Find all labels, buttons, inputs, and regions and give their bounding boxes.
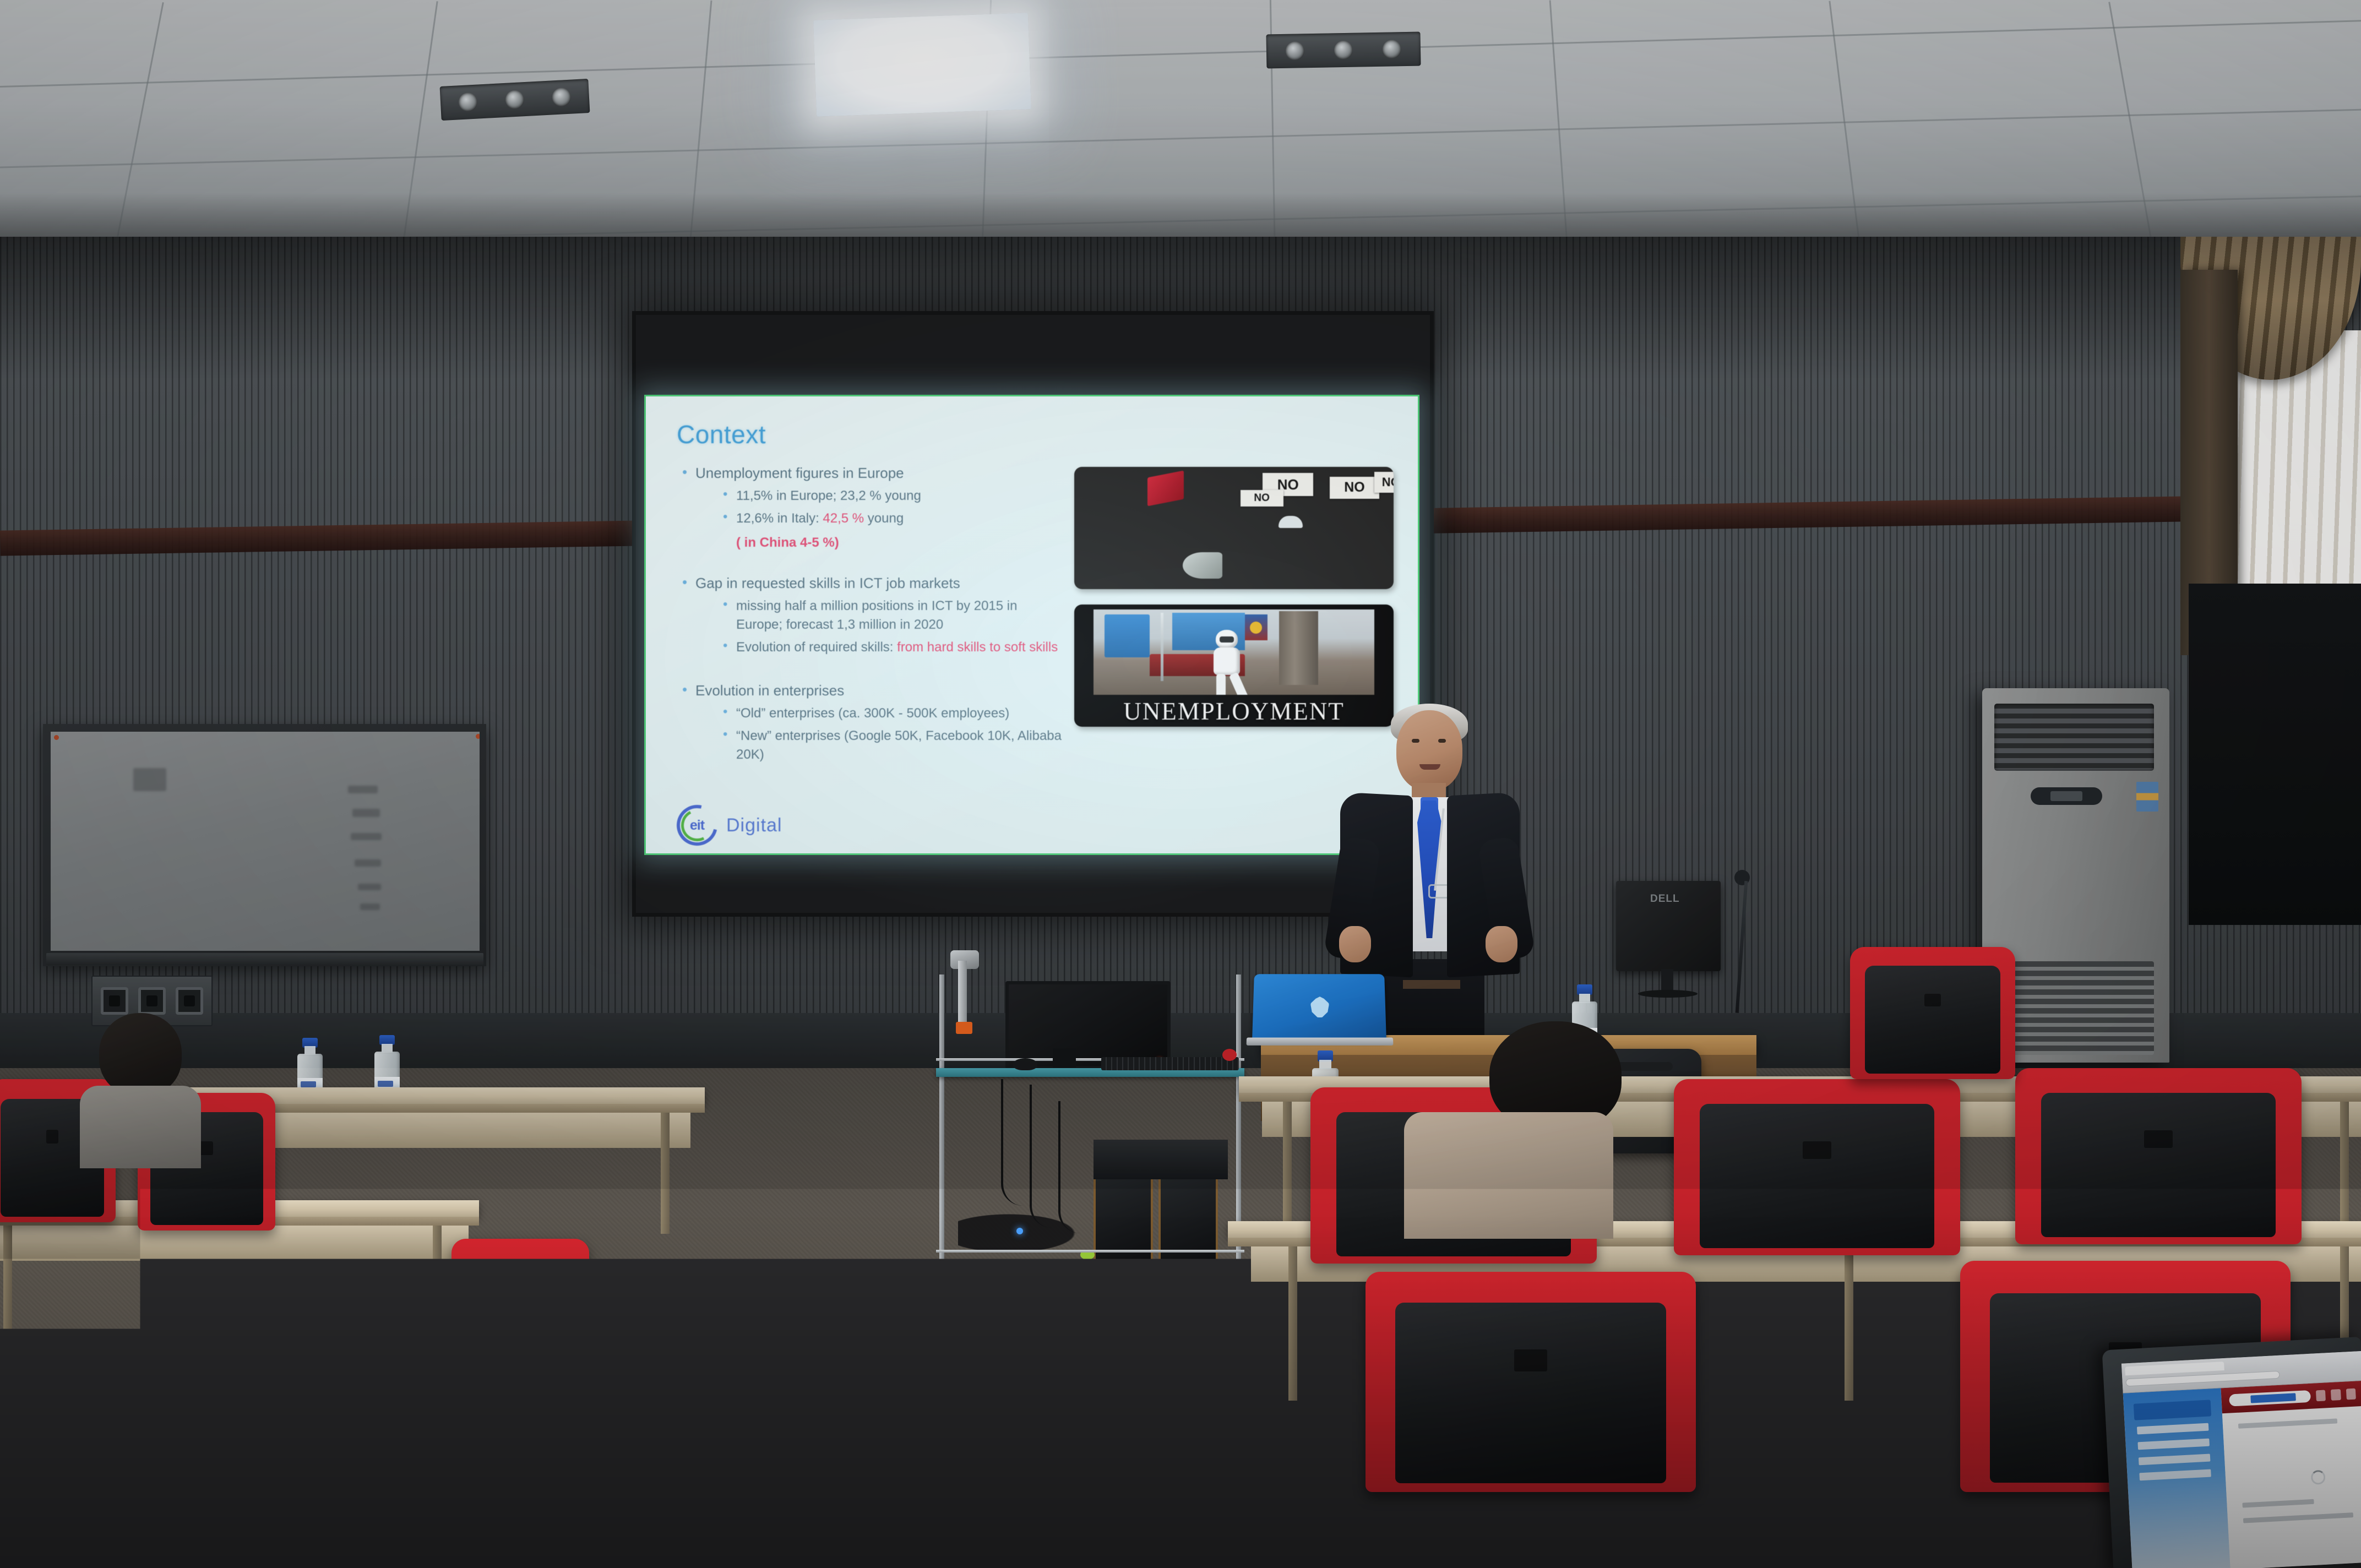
ac-vent-icon — [1994, 704, 2154, 771]
av-equipment-cart — [936, 974, 1244, 1316]
presenter-head — [1396, 710, 1462, 791]
slide-text-column: Unemployment figures in Europe 11,5% in … — [677, 464, 1062, 770]
slide-note-china: ( in China 4-5 %) — [736, 533, 1062, 552]
macbook-lid — [1252, 974, 1386, 1039]
dell-monitor-panel: DELL — [1616, 881, 1721, 971]
dell-brand-label: DELL — [1650, 893, 1680, 905]
slide-subbullet-italy: 12,6% in Italy: 42,5 % young — [720, 509, 1062, 528]
laptop-bezel — [2102, 1337, 2361, 1568]
megaphone-icon — [1183, 552, 1222, 579]
ceiling-panel-light — [813, 13, 1031, 117]
page-sidebar — [2123, 1388, 2231, 1568]
sidebar-item[interactable] — [2139, 1469, 2211, 1481]
presenter-macbook[interactable] — [1252, 974, 1386, 1039]
projection-screen-frame: Context Unemployment figures in Europe 1… — [632, 311, 1434, 917]
power-strip-led-icon — [1016, 1228, 1023, 1234]
student-front-left — [72, 1013, 209, 1145]
ac-energy-label — [2136, 782, 2158, 812]
slide-title: Context — [677, 420, 1394, 449]
spot-lamp-icon — [505, 90, 525, 110]
projected-slide: Context Unemployment figures in Europe 1… — [646, 396, 1418, 853]
page-content — [2221, 1381, 2361, 1568]
eit-mark-text: eit — [677, 805, 717, 846]
spot-lamp-icon — [1334, 41, 1353, 60]
subway-photo — [1094, 609, 1374, 695]
slide-subbullet: “Old” enterprises (ca. 300K - 500K emplo… — [720, 704, 1062, 723]
eit-digital-wordmark: Digital — [726, 815, 782, 836]
presenter-mouth — [1419, 764, 1440, 770]
protest-sign: NO — [1374, 472, 1394, 493]
slide-subbullet-skills: Evolution of required skills: from hard … — [720, 638, 1062, 657]
power-socket-icon[interactable] — [176, 987, 203, 1015]
ceiling-spot-fixture-right — [1266, 32, 1421, 69]
student-center-right — [1399, 1112, 1619, 1239]
header-icon[interactable] — [2346, 1389, 2356, 1400]
slide-subbullet: “New” enterprises (Google 50K, Facebook … — [720, 727, 1062, 764]
slide-subbullet: 11,5% in Europe; 23,2 % young — [720, 487, 1062, 505]
slide-surface: Context Unemployment figures in Europe 1… — [646, 396, 1418, 853]
ac-lower-vent-icon — [1996, 961, 2154, 1055]
spot-lamp-icon — [1286, 41, 1305, 61]
whiteboard-marker-tray — [46, 953, 483, 965]
ceiling-spot-fixture-left — [440, 79, 590, 121]
slide-bullet-3-label: Evolution in enterprises — [695, 682, 844, 699]
chair[interactable] — [2015, 1068, 2302, 1244]
macbook-base — [1247, 1038, 1394, 1046]
chair[interactable] — [1366, 1272, 1696, 1492]
protest-crowd-photo: NO NO NO NO — [1074, 467, 1394, 589]
protest-sign: NO — [1330, 477, 1379, 499]
computer-keyboard[interactable] — [1101, 1057, 1239, 1070]
header-icon[interactable] — [2316, 1390, 2326, 1401]
presenter-eye — [1412, 739, 1419, 743]
sidebar-item[interactable] — [2139, 1454, 2211, 1466]
computer-mouse[interactable] — [1013, 1058, 1037, 1070]
cart-monitor — [1005, 981, 1171, 1069]
sidebar-item[interactable] — [2137, 1439, 2210, 1450]
student-foreground-left — [3, 1404, 179, 1568]
chair[interactable] — [1674, 1079, 1960, 1255]
spot-lamp-icon — [1383, 40, 1402, 59]
presenter-hand-left — [1339, 926, 1371, 962]
ac-display-panel[interactable] — [2031, 787, 2102, 805]
highlight-italy-young: 42,5 % — [823, 511, 864, 526]
power-socket-icon[interactable] — [101, 987, 128, 1015]
browser-tab[interactable] — [2125, 1362, 2224, 1375]
sidebar-header — [2134, 1400, 2211, 1420]
apple-logo-icon — [1310, 997, 1329, 1017]
cart-caster-wheel — [935, 1309, 949, 1324]
whiteboard-surface — [51, 732, 480, 951]
spot-lamp-icon — [552, 88, 572, 107]
slide-bullet-2: Gap in requested skills in ICT job marke… — [677, 574, 1062, 657]
slide-bullet-3: Evolution in enterprises “Old” enterpris… — [677, 681, 1062, 764]
spot-lamp-icon — [459, 92, 478, 112]
chair[interactable] — [451, 1239, 589, 1420]
suspended-ceiling — [0, 0, 2361, 259]
eit-digital-logo: eit Digital — [677, 805, 782, 846]
stormtrooper-figure — [1211, 630, 1242, 695]
presenter-hand-right — [1486, 926, 1517, 962]
search-input[interactable] — [2229, 1390, 2311, 1407]
presenter-eye — [1438, 739, 1446, 743]
laptop-screen — [2121, 1351, 2361, 1568]
lecture-hall-scene: Context Unemployment figures in Europe 1… — [0, 0, 2361, 1568]
slide-bullet-1-label: Unemployment figures in Europe — [695, 465, 904, 481]
power-socket-icon[interactable] — [138, 987, 166, 1015]
loading-spinner-icon — [2310, 1470, 2325, 1485]
foreground-laptop[interactable] — [2102, 1337, 2361, 1568]
dark-cabinet — [2189, 584, 2361, 925]
eit-mark-icon: eit — [677, 805, 717, 846]
dell-monitor[interactable]: DELL — [1616, 881, 1721, 997]
protest-sign: NO — [1241, 490, 1283, 507]
slide-bullet-1: Unemployment figures in Europe 11,5% in … — [677, 464, 1062, 552]
sidebar-item[interactable] — [2137, 1423, 2209, 1435]
whiteboard — [43, 724, 486, 966]
slide-bullet-2-label: Gap in requested skills in ICT job marke… — [695, 575, 960, 591]
chair-aisle-right[interactable] — [1850, 947, 2015, 1079]
header-icon[interactable] — [2331, 1389, 2341, 1401]
highlight-soft-skills: from hard skills to soft skills — [897, 640, 1058, 655]
slide-subbullet: missing half a million positions in ICT … — [720, 597, 1062, 634]
red-knob — [1222, 1049, 1237, 1061]
